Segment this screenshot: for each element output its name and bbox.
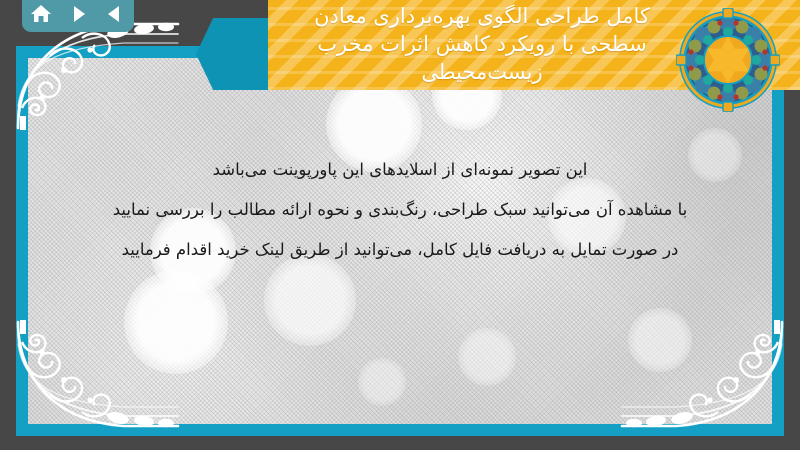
next-slide-button[interactable]: [65, 1, 91, 27]
previous-slide-button[interactable]: [102, 1, 128, 27]
triangle-left-icon: [104, 3, 126, 25]
bokeh-dot: [628, 308, 692, 372]
triangle-right-icon: [67, 3, 89, 25]
home-button[interactable]: [28, 1, 54, 27]
body-line: در صورت تمایل به دریافت فایل کامل، می‌تو…: [70, 230, 730, 270]
bokeh-dot: [358, 358, 406, 406]
slide-navigation-bar: [22, 0, 134, 32]
body-line: این تصویر نمونه‌ای از اسلایدهای این پاور…: [70, 150, 730, 190]
content-frame: این تصویر نمونه‌ای از اسلایدهای این پاور…: [16, 46, 784, 436]
content-panel: این تصویر نمونه‌ای از اسلایدهای این پاور…: [28, 58, 772, 424]
home-icon: [29, 2, 53, 26]
bokeh-dot: [458, 328, 516, 386]
persian-medallion-icon: [676, 8, 780, 112]
bokeh-dot: [124, 270, 228, 374]
slide-canvas: کامل طراحی الگوی بهره‌برداری معادن سطحی …: [0, 0, 800, 450]
body-text: این تصویر نمونه‌ای از اسلایدهای این پاور…: [28, 150, 772, 270]
body-line: با مشاهده آن می‌توانید سبک طراحی، رنگ‌بن…: [70, 190, 730, 230]
